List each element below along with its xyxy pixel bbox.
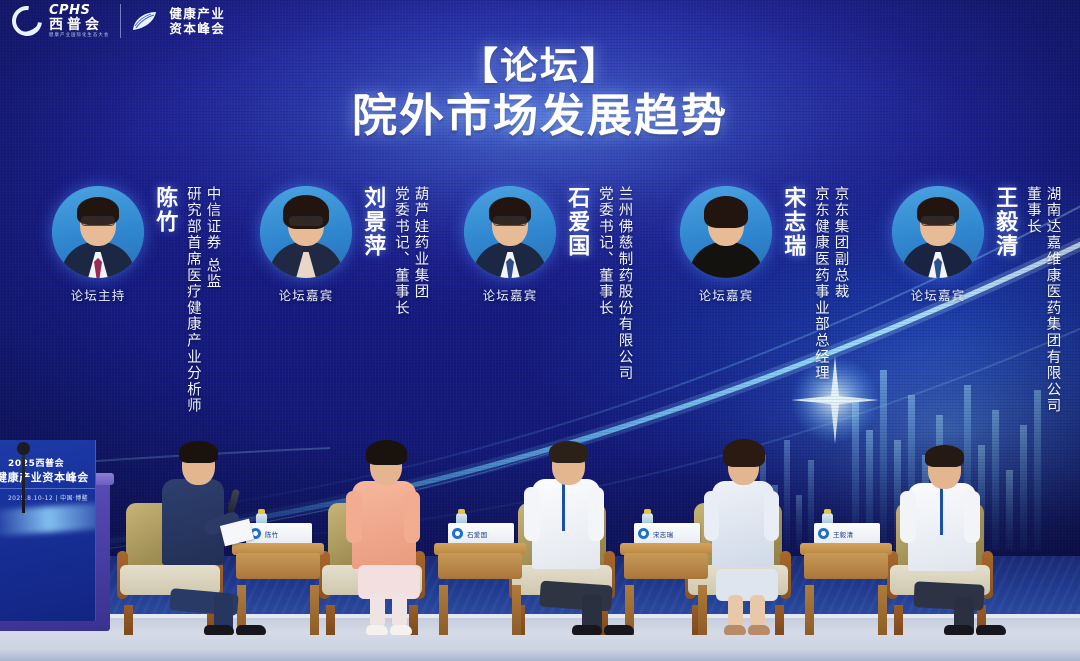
- headshot-avatar-icon: [260, 186, 352, 278]
- panelist-title-1: 葫芦娃药业集团: [412, 186, 429, 316]
- seated-person-4: [700, 439, 810, 635]
- panelist-name: 王毅清: [992, 186, 1016, 258]
- panelist-title-2: 党委书记、董事长: [596, 186, 613, 382]
- panelist-titles: 京东集团副总裁 京东健康医药事业部总经理: [809, 186, 848, 382]
- logo-divider: [120, 4, 121, 38]
- seated-person-1: [148, 440, 268, 635]
- headshot-avatar-icon: [680, 186, 772, 278]
- cphs-circle-logo-icon: [6, 0, 48, 42]
- seated-person-3: [520, 439, 638, 635]
- banner-line-1: 2025西普会: [8, 456, 64, 469]
- placard-logo-icon: [452, 528, 463, 539]
- standing-banner: 2025西普会 健康产业资本峰会 2025.8.10-12 | 中国·博鳌: [0, 440, 96, 621]
- conference-stage-photo: CPHS 西普会 健康产业国际化生态大会 健康产业 资本峰会 【论坛】 院外市场…: [0, 0, 1080, 661]
- panelist-role: 论坛主持: [71, 285, 126, 304]
- panelist-titles: 兰州佛慈制药股份有限公司 党委书记、董事长: [593, 186, 632, 382]
- panelist-name: 宋志瑞: [780, 186, 804, 258]
- page-title: 院外市场发展趋势: [0, 89, 1080, 142]
- panelist-card-3: 论坛嘉宾 石爱国 兰州佛慈制药股份有限公司 党委书记、董事长: [460, 186, 633, 382]
- panelist-title-1: 湖南达嘉维康医药集团有限公司: [1044, 186, 1061, 414]
- name-placard-3: 宋志瑞: [634, 523, 700, 544]
- panelist-name: 刘景萍: [360, 186, 384, 258]
- side-table-4: 王毅清: [800, 543, 892, 619]
- panelist-list: 论坛主持 陈竹 中信证券 总监 研究部首席医疗健康产业分析师 论坛嘉宾 刘景萍 …: [0, 186, 1080, 436]
- summit-logo-text: 健康产业 资本峰会: [169, 7, 225, 36]
- banner-line-2: 健康产业资本峰会: [0, 469, 89, 485]
- seated-person-2: [342, 437, 452, 635]
- microphone-stand-icon: [22, 451, 25, 513]
- cphs-logo: CPHS 西普会 健康产业国际化生态大会: [12, 4, 109, 38]
- headshot-avatar-icon: [464, 186, 556, 278]
- panelist-title-2: 董事长: [1024, 186, 1041, 414]
- panelist-card-5: 论坛嘉宾 王毅清 湖南达嘉维康医药集团有限公司 董事长: [888, 186, 1061, 414]
- banner-line-3: 2025.8.10-12 | 中国·博鳌: [0, 493, 96, 502]
- panelist-name: 石爱国: [564, 186, 588, 258]
- event-logo-bar: CPHS 西普会 健康产业国际化生态大会 健康产业 资本峰会: [12, 4, 225, 38]
- logo-name-cn: 西普会: [49, 18, 109, 33]
- name-placard-2: 石爱国: [448, 523, 514, 544]
- leaf-icon: [132, 11, 158, 32]
- panelist-card-2: 论坛嘉宾 刘景萍 葫芦娃药业集团 党委书记、董事长: [256, 186, 429, 316]
- panelist-title-1: 中信证券 总监: [204, 186, 221, 414]
- panelist-card-1: 论坛主持 陈竹 中信证券 总监 研究部首席医疗健康产业分析师: [48, 186, 221, 414]
- panelist-titles: 中信证券 总监 研究部首席医疗健康产业分析师: [181, 186, 220, 414]
- panelist-title-2: 京东健康医药事业部总经理: [812, 186, 829, 382]
- summit-line2: 资本峰会: [169, 22, 225, 36]
- name-placard-4: 王毅清: [814, 523, 880, 544]
- panelist-titles: 湖南达嘉维康医药集团有限公司 董事长: [1021, 186, 1060, 414]
- panelist-role: 论坛嘉宾: [699, 285, 754, 304]
- summit-line1: 健康产业: [169, 7, 225, 21]
- placard-name: 宋志瑞: [653, 529, 673, 539]
- panelist-title-2: 党委书记、董事长: [392, 186, 409, 316]
- panelist-titles: 葫芦娃药业集团 党委书记、董事长: [389, 186, 428, 316]
- panelist-title-2: 研究部首席医疗健康产业分析师: [184, 186, 201, 414]
- panelist-name: 陈竹: [152, 186, 176, 234]
- logo-subtitle-cn: 健康产业国际化生态大会: [49, 34, 109, 38]
- panel-seating: 陈竹 石爱国 宋志瑞 王毅清: [0, 420, 1080, 635]
- logo-acronym: CPHS: [49, 4, 109, 17]
- placard-logo-icon: [818, 528, 829, 539]
- forum-title-block: 【论坛】 院外市场发展趋势: [0, 44, 1080, 142]
- placard-logo-icon: [638, 528, 649, 539]
- panelist-card-4: 论坛嘉宾 宋志瑞 京东集团副总裁 京东健康医药事业部总经理: [676, 186, 849, 382]
- panelist-role: 论坛嘉宾: [911, 285, 966, 304]
- headshot-avatar-icon: [52, 186, 144, 278]
- panelist-role: 论坛嘉宾: [279, 285, 334, 304]
- placard-name: 石爱国: [467, 529, 487, 539]
- title-line-1: 【论坛】: [0, 44, 1080, 89]
- placard-name: 王毅清: [833, 529, 853, 539]
- seated-person-5: [896, 443, 1014, 635]
- panelist-role: 论坛嘉宾: [483, 285, 538, 304]
- panelist-title-1: 京东集团副总裁: [832, 186, 849, 382]
- panelist-title-1: 兰州佛慈制药股份有限公司: [616, 186, 633, 382]
- headshot-avatar-icon: [892, 186, 984, 278]
